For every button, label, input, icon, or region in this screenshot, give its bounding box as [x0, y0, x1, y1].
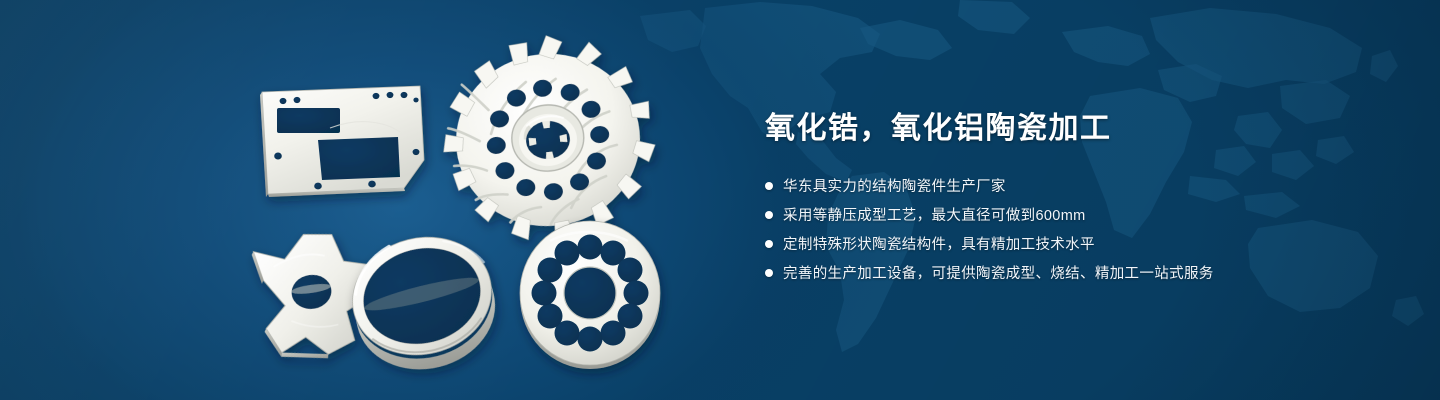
list-item: 华东具实力的结构陶瓷件生产厂家 — [765, 175, 1385, 197]
promo-banner: 氧化锆，氧化铝陶瓷加工 华东具实力的结构陶瓷件生产厂家 采用等静压成型工艺，最大… — [0, 0, 1440, 400]
page-title: 氧化锆，氧化铝陶瓷加工 — [765, 112, 1385, 146]
feature-list: 华东具实力的结构陶瓷件生产厂家 采用等静压成型工艺，最大直径可做到600mm 定… — [765, 175, 1385, 284]
list-item: 采用等静压成型工艺，最大直径可做到600mm — [765, 204, 1385, 226]
ceramic-ring — [340, 223, 508, 384]
ceramic-mounting-plate — [260, 86, 424, 197]
feature-text: 华东具实力的结构陶瓷件生产厂家 — [783, 175, 1006, 196]
feature-text: 完善的生产加工设备，可提供陶瓷成型、烧结、精加工一站式服务 — [783, 262, 1214, 283]
bullet-dot-icon — [765, 211, 773, 219]
bullet-dot-icon — [765, 269, 773, 277]
banner-copy: 氧化锆，氧化铝陶瓷加工 华东具实力的结构陶瓷件生产厂家 采用等静压成型工艺，最大… — [765, 112, 1385, 291]
ceramic-vaned-impeller — [433, 25, 664, 251]
list-item: 完善的生产加工设备，可提供陶瓷成型、烧结、精加工一站式服务 — [765, 262, 1385, 284]
feature-text: 定制特殊形状陶瓷结构件，具有精加工技术水平 — [783, 233, 1095, 254]
ceramic-perforated-disc — [520, 221, 660, 369]
feature-text: 采用等静压成型工艺，最大直径可做到600mm — [783, 204, 1086, 225]
list-item: 定制特殊形状陶瓷结构件，具有精加工技术水平 — [765, 233, 1385, 255]
product-photo-group — [0, 0, 720, 400]
bullet-dot-icon — [765, 240, 773, 248]
bullet-dot-icon — [765, 182, 773, 190]
